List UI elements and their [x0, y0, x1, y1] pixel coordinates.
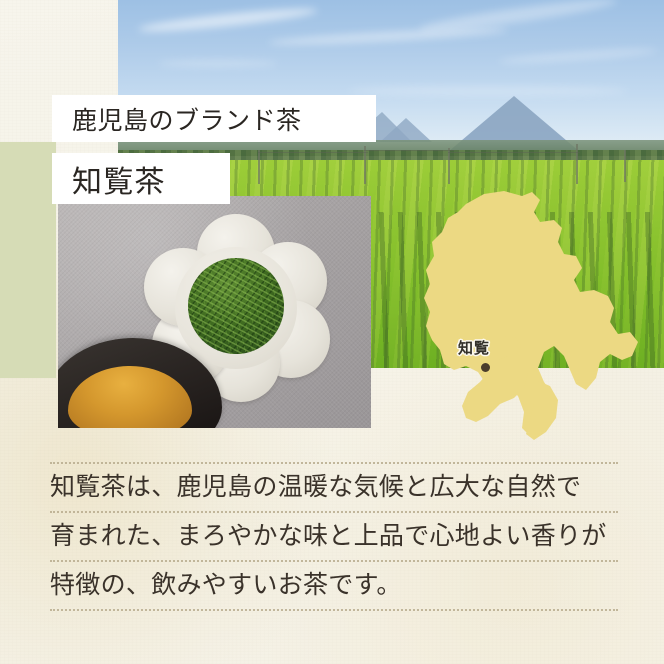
- body-copy-line: 育まれた、まろやかな味と上品で心地よい香りが: [50, 513, 618, 560]
- dotted-rule: [50, 609, 618, 611]
- tea-leaves-product-photo: [58, 196, 371, 428]
- mountain-peak-left-second: [380, 118, 432, 142]
- power-wire: [258, 152, 368, 153]
- cloud-streak: [348, 86, 628, 96]
- utility-pole: [448, 148, 450, 184]
- utility-pole: [576, 144, 578, 184]
- product-title-text: 知覧茶: [72, 157, 166, 201]
- body-copy-line: 知覧茶は、鹿児島の温暖な気候と広大な自然で: [50, 464, 618, 511]
- dotted-rule: [50, 560, 618, 562]
- utility-pole: [258, 150, 260, 184]
- promo-card-root: 知覧 鹿児島のブランド茶 知覧茶 知覧茶は、鹿児島の温暖な気候と広大な自然で: [0, 0, 664, 664]
- brand-title-text: 鹿児島のブランド茶: [72, 101, 302, 137]
- cloud-streak: [158, 60, 278, 67]
- tea-leaves-texture: [188, 258, 284, 354]
- product-title-plate: 知覧茶: [52, 153, 230, 204]
- kagoshima-map: [404, 184, 654, 448]
- utility-pole: [624, 150, 626, 182]
- power-wire: [364, 150, 454, 151]
- map-city-marker: [481, 363, 490, 372]
- dotted-rule: [50, 511, 618, 513]
- body-copy-line: 特徴の、飲みやすいお茶です。: [50, 562, 618, 609]
- body-copy-block: 知覧茶は、鹿児島の温暖な気候と広大な自然で 育まれた、まろやかな味と上品で心地よ…: [50, 462, 618, 611]
- map-city-label: 知覧: [458, 337, 490, 358]
- sage-accent-block: [0, 142, 56, 378]
- power-wire: [448, 152, 580, 153]
- dotted-rule: [50, 462, 618, 464]
- tea-leaves-mound: [188, 258, 284, 354]
- brand-title-plate: 鹿児島のブランド茶: [52, 95, 376, 142]
